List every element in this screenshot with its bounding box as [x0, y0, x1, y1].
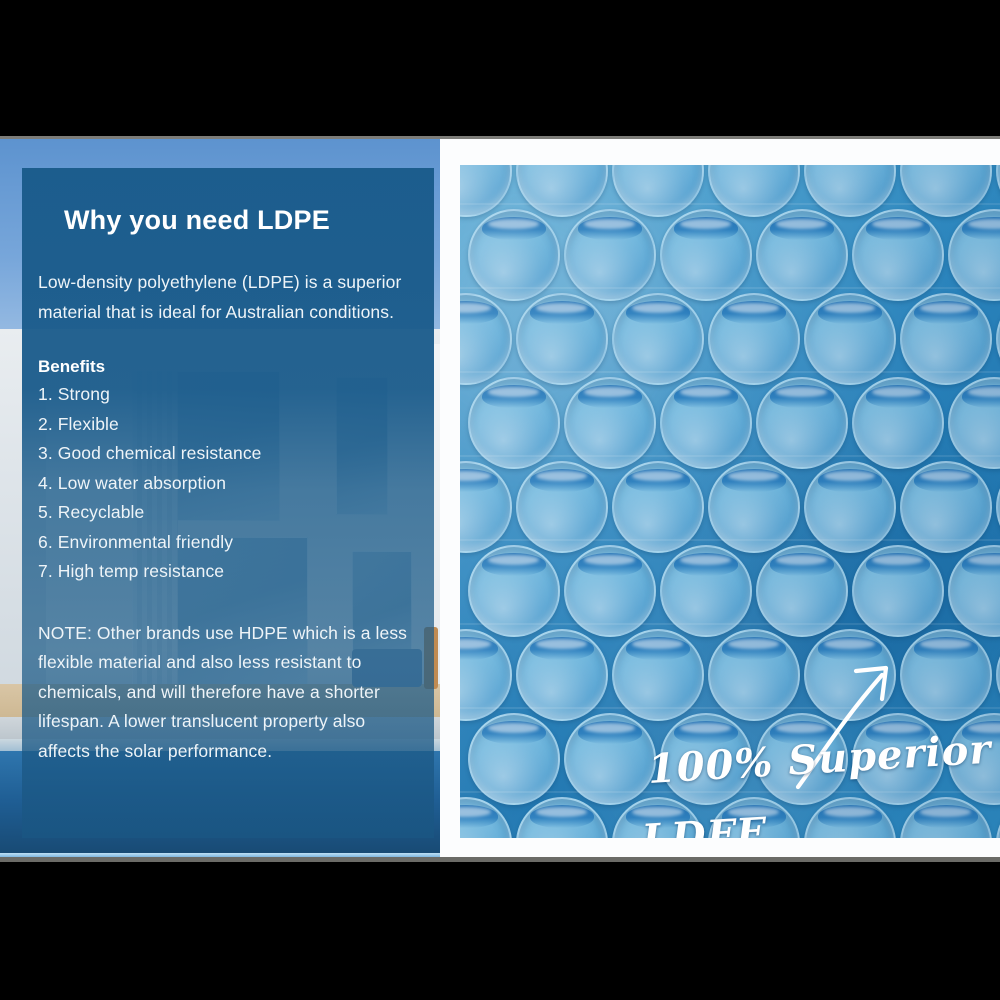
- list-item: 2. Flexible: [38, 410, 434, 440]
- page-title: Why you need LDPE: [64, 205, 434, 236]
- list-item: 7. High temp resistance: [38, 557, 434, 587]
- bubble: [516, 797, 608, 838]
- bubble: [612, 165, 704, 217]
- benefits-heading: Benefits: [38, 357, 434, 377]
- bubble: [516, 165, 608, 217]
- bubble: [708, 165, 800, 217]
- bubble: [900, 165, 992, 217]
- list-item: 6. Environmental friendly: [38, 528, 434, 558]
- list-item: 1. Strong: [38, 380, 434, 410]
- bubble: [900, 797, 992, 838]
- bubble: [804, 797, 896, 838]
- bubble-sheet-seam: [460, 455, 1000, 457]
- bubble-sheet-seam: [460, 287, 1000, 289]
- letterbox-bar-top: [0, 0, 1000, 138]
- letterbox-bar-bottom: [0, 862, 1000, 1000]
- bubble-sheet-seam: [460, 371, 1000, 373]
- lead-paragraph: Low-density polyethylene (LDPE) is a sup…: [38, 268, 416, 327]
- bubble-sheet-seam: [460, 203, 1000, 205]
- list-item: 4. Low water absorption: [38, 469, 434, 499]
- content-band: Why you need LDPE Low-density polyethyle…: [0, 139, 1000, 862]
- bubble-wrap-photo: 100% Superior LDFE: [460, 165, 1000, 838]
- list-item: 3. Good chemical resistance: [38, 439, 434, 469]
- benefits-list: 1. Strong 2. Flexible 3. Good chemical r…: [38, 380, 434, 587]
- right-image-panel: 100% Superior LDFE: [440, 139, 1000, 862]
- bubble-sheet-seam: [460, 539, 1000, 541]
- note-paragraph: NOTE: Other brands use HDPE which is a l…: [38, 619, 410, 767]
- info-card: Why you need LDPE Low-density polyethyle…: [22, 168, 434, 838]
- screenshot-root: Why you need LDPE Low-density polyethyle…: [0, 0, 1000, 1000]
- bubble: [804, 165, 896, 217]
- list-item: 5. Recyclable: [38, 498, 434, 528]
- left-info-panel: Why you need LDPE Low-density polyethyle…: [0, 139, 440, 862]
- bubble-sheet-seam: [460, 623, 1000, 625]
